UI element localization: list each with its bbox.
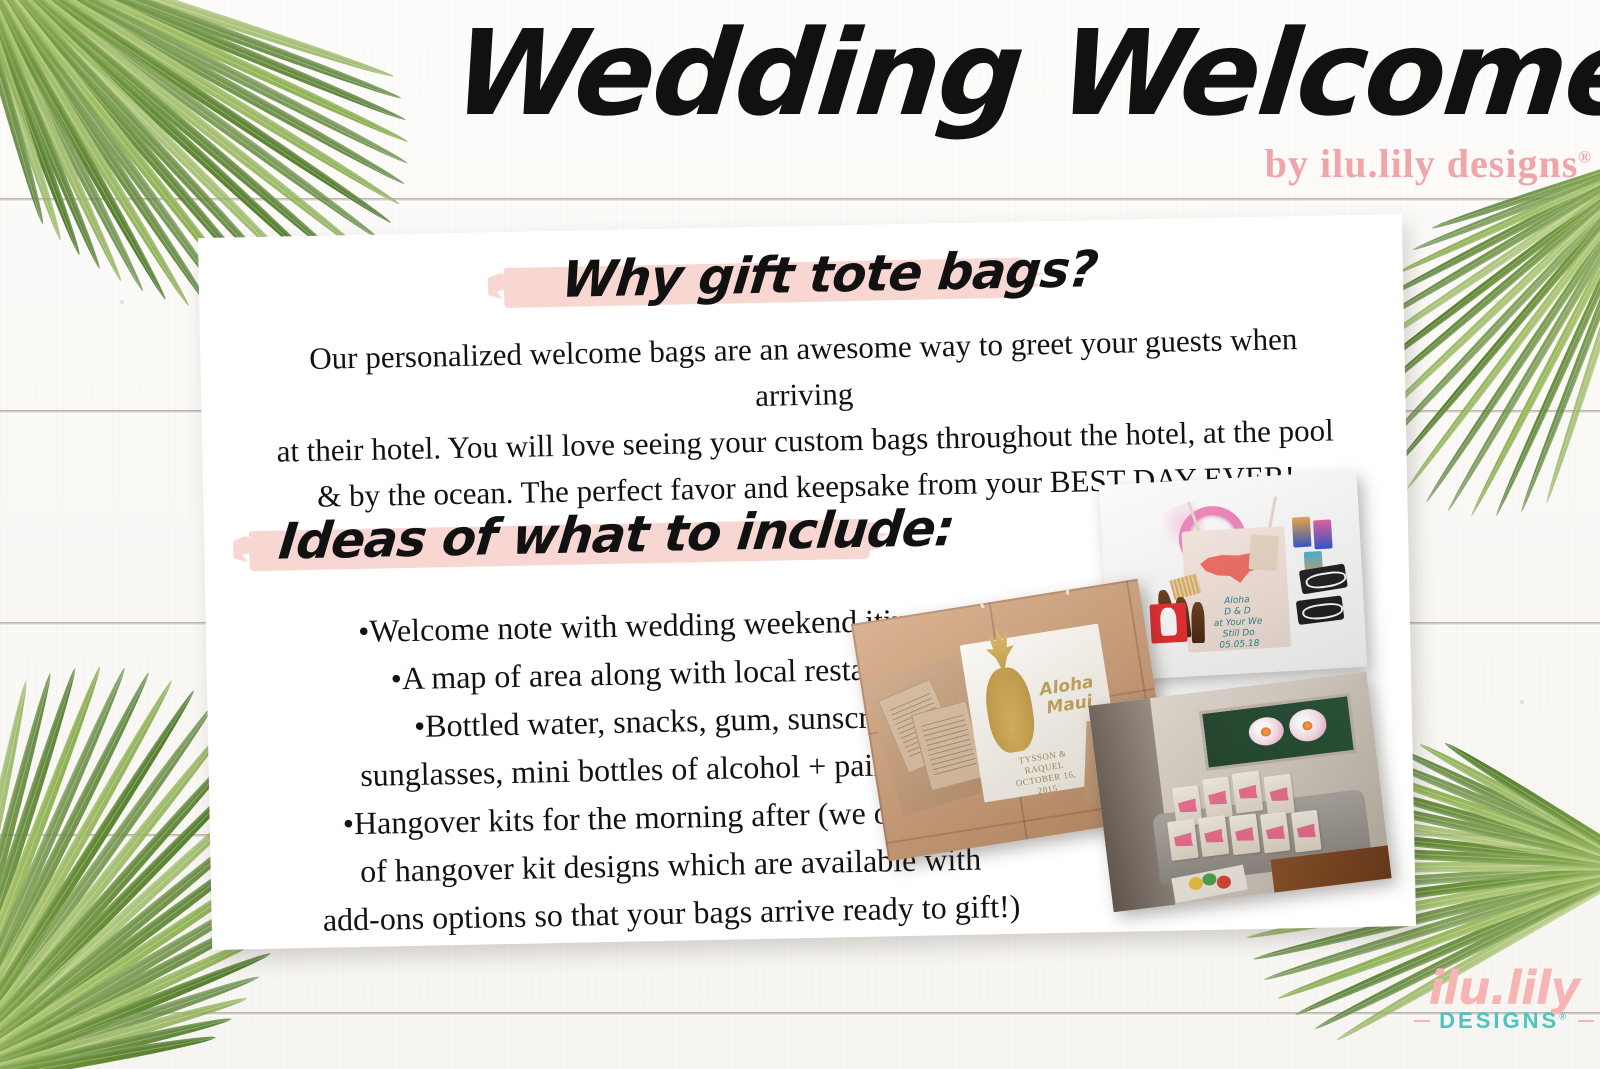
welcome-bag-object <box>1263 773 1294 815</box>
welcome-bag-object <box>1232 771 1263 813</box>
wood-speck <box>1520 700 1524 704</box>
logo-script-text: ilu.lily <box>1418 964 1590 1012</box>
wood-speck <box>120 300 124 304</box>
coke-pack-object <box>1149 602 1187 643</box>
welcome-bag-object <box>1291 810 1322 852</box>
welcome-bag-object <box>1167 819 1198 861</box>
candy-object <box>1313 519 1333 549</box>
plank-seam <box>0 1012 1600 1015</box>
logo-designs-label: DESIGNS <box>1439 1008 1559 1033</box>
registered-mark-icon: ® <box>1578 148 1592 167</box>
section-heading-ideas-text: Ideas of what to include: <box>246 503 871 570</box>
tote-script-line: 05.05.18 <box>1206 637 1274 652</box>
page-title: Wedding Welcome Bags <box>448 10 1566 136</box>
welcome-bag-object <box>1229 813 1260 855</box>
logo-designs-text: DESIGNS® <box>1418 1008 1590 1034</box>
welcome-bag-object <box>1202 777 1233 819</box>
section-heading-ideas: Ideas of what to include: <box>249 503 870 577</box>
brand-byline: by ilu.lily designs® <box>1265 140 1592 187</box>
ilulily-logo[interactable]: ilu.lily DESIGNS® <box>1418 964 1590 1060</box>
brand-byline-text: by ilu.lily designs <box>1265 141 1579 186</box>
sunglasses-pouch-object <box>1296 596 1345 625</box>
hella-beached-bags-photo[interactable] <box>1088 672 1391 913</box>
welcome-bag-object <box>1260 811 1291 853</box>
bottle-object <box>1191 601 1205 642</box>
pineapple-graphic <box>981 664 1038 755</box>
section-heading-why: Why gift tote bags? <box>503 244 1024 316</box>
section-heading-why-text: Why gift tote bags? <box>501 244 1026 309</box>
candy-object <box>1292 517 1312 547</box>
welcome-bag-object <box>1198 815 1229 857</box>
registered-mark-icon: ® <box>1559 1012 1569 1022</box>
tote-script-text: Aloha D & D at Your We Still Do 05.05.18 <box>1203 594 1273 653</box>
welcome-tag-object <box>1249 534 1280 571</box>
poster-canvas: Wedding Welcome Bags by ilu.lily designs… <box>0 0 1600 1069</box>
